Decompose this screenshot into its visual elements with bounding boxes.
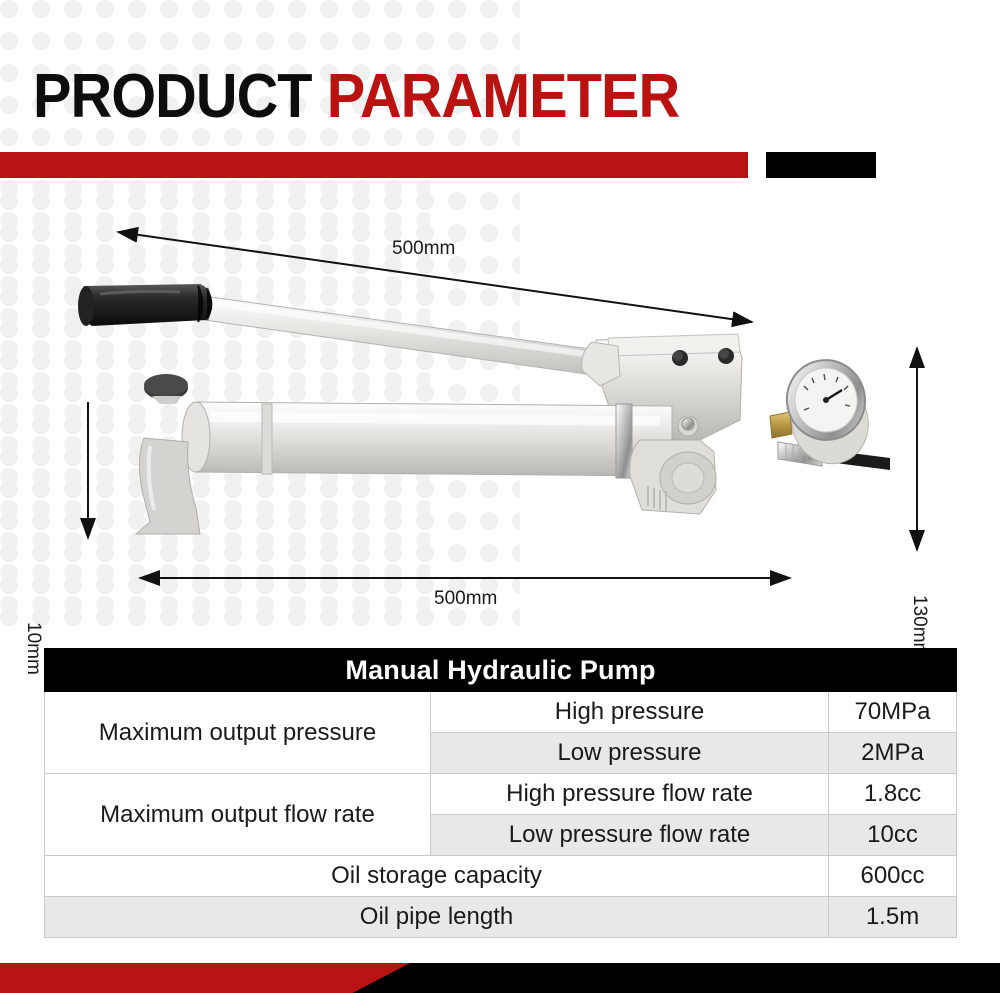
- header-accent-bar-black: [766, 152, 876, 178]
- grip-end-cap: [78, 286, 94, 326]
- spec-value-high-pressure: 70MPa: [829, 692, 957, 733]
- table-row: Maximum output flow rate High pressure f…: [45, 774, 957, 815]
- cylinder-joint: [262, 404, 272, 474]
- spec-sub-high-flow: High pressure flow rate: [431, 774, 829, 815]
- table-row: Maximum output pressure High pressure 70…: [45, 692, 957, 733]
- footer-accent-bar-red: [0, 963, 410, 993]
- spec-value-capacity: 600cc: [829, 856, 957, 897]
- table-row: Oil storage capacity 600cc: [45, 856, 957, 897]
- spec-group-capacity: Oil storage capacity: [45, 856, 829, 897]
- specification-table: Manual Hydraulic Pump Maximum output pre…: [44, 648, 957, 938]
- brass-fitting: [770, 412, 792, 438]
- release-valve-center: [672, 463, 704, 493]
- spec-group-pipe: Oil pipe length: [45, 897, 829, 938]
- dimension-label-overall-length: 500mm: [434, 588, 497, 610]
- spec-sub-low-pressure: Low pressure: [431, 733, 829, 774]
- fill-cap-neck: [152, 396, 182, 404]
- head-bolt-left-inner: [673, 351, 683, 361]
- product-parameter-page: PRODUCT PARAMETER: [0, 0, 1000, 993]
- table-title: Manual Hydraulic Pump: [45, 649, 957, 692]
- header-accent-bar-red: [0, 152, 748, 178]
- page-title-product: PRODUCT: [33, 62, 312, 131]
- body-screw: [682, 418, 694, 430]
- spec-value-pipe: 1.5m: [829, 897, 957, 938]
- gauge-needle-hub: [823, 397, 829, 403]
- dimension-label-base-height: 10mm: [22, 622, 44, 675]
- table-header-row: Manual Hydraulic Pump: [45, 649, 957, 692]
- spec-value-low-pressure: 2MPa: [829, 733, 957, 774]
- head-bolt-right-inner: [719, 349, 729, 359]
- spec-value-low-flow: 10cc: [829, 815, 957, 856]
- spec-sub-high-pressure: High pressure: [431, 692, 829, 733]
- spec-group-flow: Maximum output flow rate: [45, 774, 431, 856]
- table-row: Oil pipe length 1.5m: [45, 897, 957, 938]
- product-photo: 500mm 500mm 10mm 130mm: [0, 190, 1000, 640]
- lever-highlight: [196, 298, 608, 360]
- lever-pivot: [582, 342, 620, 386]
- spec-value-high-flow: 1.8cc: [829, 774, 957, 815]
- dimension-label-handle-length: 500mm: [392, 238, 455, 260]
- spec-group-pressure: Maximum output pressure: [45, 692, 431, 774]
- product-illustration: [0, 190, 1000, 640]
- spec-sub-low-flow: Low pressure flow rate: [431, 815, 829, 856]
- page-title: PRODUCT PARAMETER: [33, 66, 679, 128]
- oil-fill-cap-top: [144, 374, 188, 396]
- page-title-parameter: PARAMETER: [327, 62, 680, 131]
